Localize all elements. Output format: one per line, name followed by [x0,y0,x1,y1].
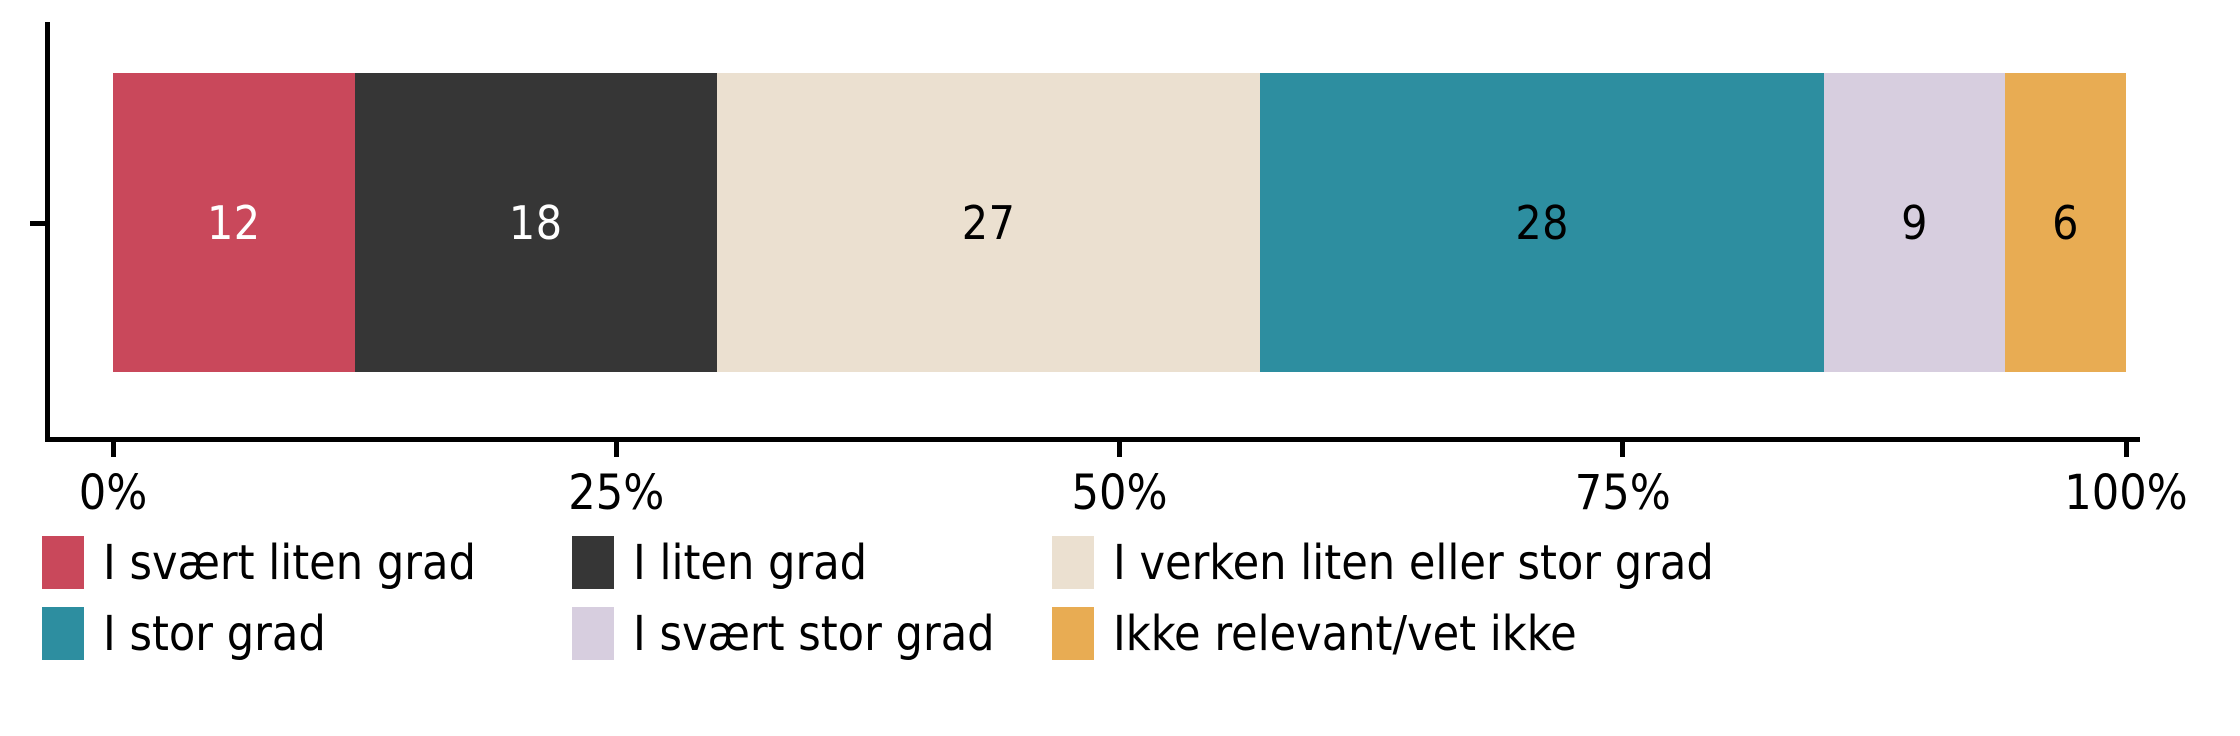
x-axis-tick-mark [2124,442,2129,457]
legend-item-label: I svært stor grad [633,610,995,658]
legend-row: I svært liten gradI liten gradI verken l… [42,536,2192,589]
chart-legend: I svært liten gradI liten gradI verken l… [42,536,2192,660]
bar-segment: 6 [2005,73,2126,372]
bar-segment: 28 [1260,73,1824,372]
x-axis-tick-mark [111,442,116,457]
legend-swatch-icon [1052,607,1094,660]
bar-segment-value-label: 18 [509,200,563,246]
y-axis-tick-mark [30,221,45,226]
legend-item-label: I verken liten eller stor grad [1113,539,1714,587]
bar-segment-value-label: 12 [207,200,261,246]
legend-swatch-icon [42,536,84,589]
legend-item-label: I stor grad [103,610,326,658]
chart-figure: 1218272896 0%25%50%75%100% I svært liten… [0,0,2240,736]
legend-swatch-icon [42,607,84,660]
legend-item[interactable]: I stor grad [42,607,572,660]
legend-item-label: Ikke relevant/vet ikke [1113,610,1577,658]
bar-segment: 9 [1824,73,2005,372]
bar-segment: 18 [355,73,717,372]
legend-item[interactable]: I liten grad [572,536,1052,589]
plot-area: 1218272896 0%25%50%75%100% [45,22,2140,442]
legend-item[interactable]: I verken liten eller stor grad [1052,536,1852,589]
bar-segment: 12 [113,73,355,372]
legend-item-label: I liten grad [633,539,867,587]
stacked-bar: 1218272896 [113,73,2126,372]
legend-swatch-icon [1052,536,1094,589]
legend-item[interactable]: I svært liten grad [42,536,572,589]
x-axis-tick-label: 50% [1072,465,1168,521]
x-axis-spine [45,437,2140,442]
y-axis-spine [45,22,50,442]
bar-segment-value-label: 9 [1901,200,1928,246]
x-axis-tick-label: 100% [2064,465,2187,521]
x-axis-tick-label: 0% [79,465,148,521]
bar-segment: 27 [717,73,1261,372]
bar-segment-value-label: 27 [962,200,1016,246]
legend-row: I stor gradI svært stor gradIkke relevan… [42,607,2192,660]
bar-segment-value-label: 6 [2052,200,2079,246]
legend-swatch-icon [572,607,614,660]
legend-swatch-icon [572,536,614,589]
legend-item[interactable]: I svært stor grad [572,607,1052,660]
x-axis-tick-mark [614,442,619,457]
bar-segment-value-label: 28 [1515,200,1569,246]
x-axis-tick-mark [1620,442,1625,457]
x-axis-tick-mark [1117,442,1122,457]
legend-item[interactable]: Ikke relevant/vet ikke [1052,607,1852,660]
x-axis-tick-label: 75% [1575,465,1671,521]
x-axis-tick-label: 25% [568,465,664,521]
legend-item-label: I svært liten grad [103,539,476,587]
